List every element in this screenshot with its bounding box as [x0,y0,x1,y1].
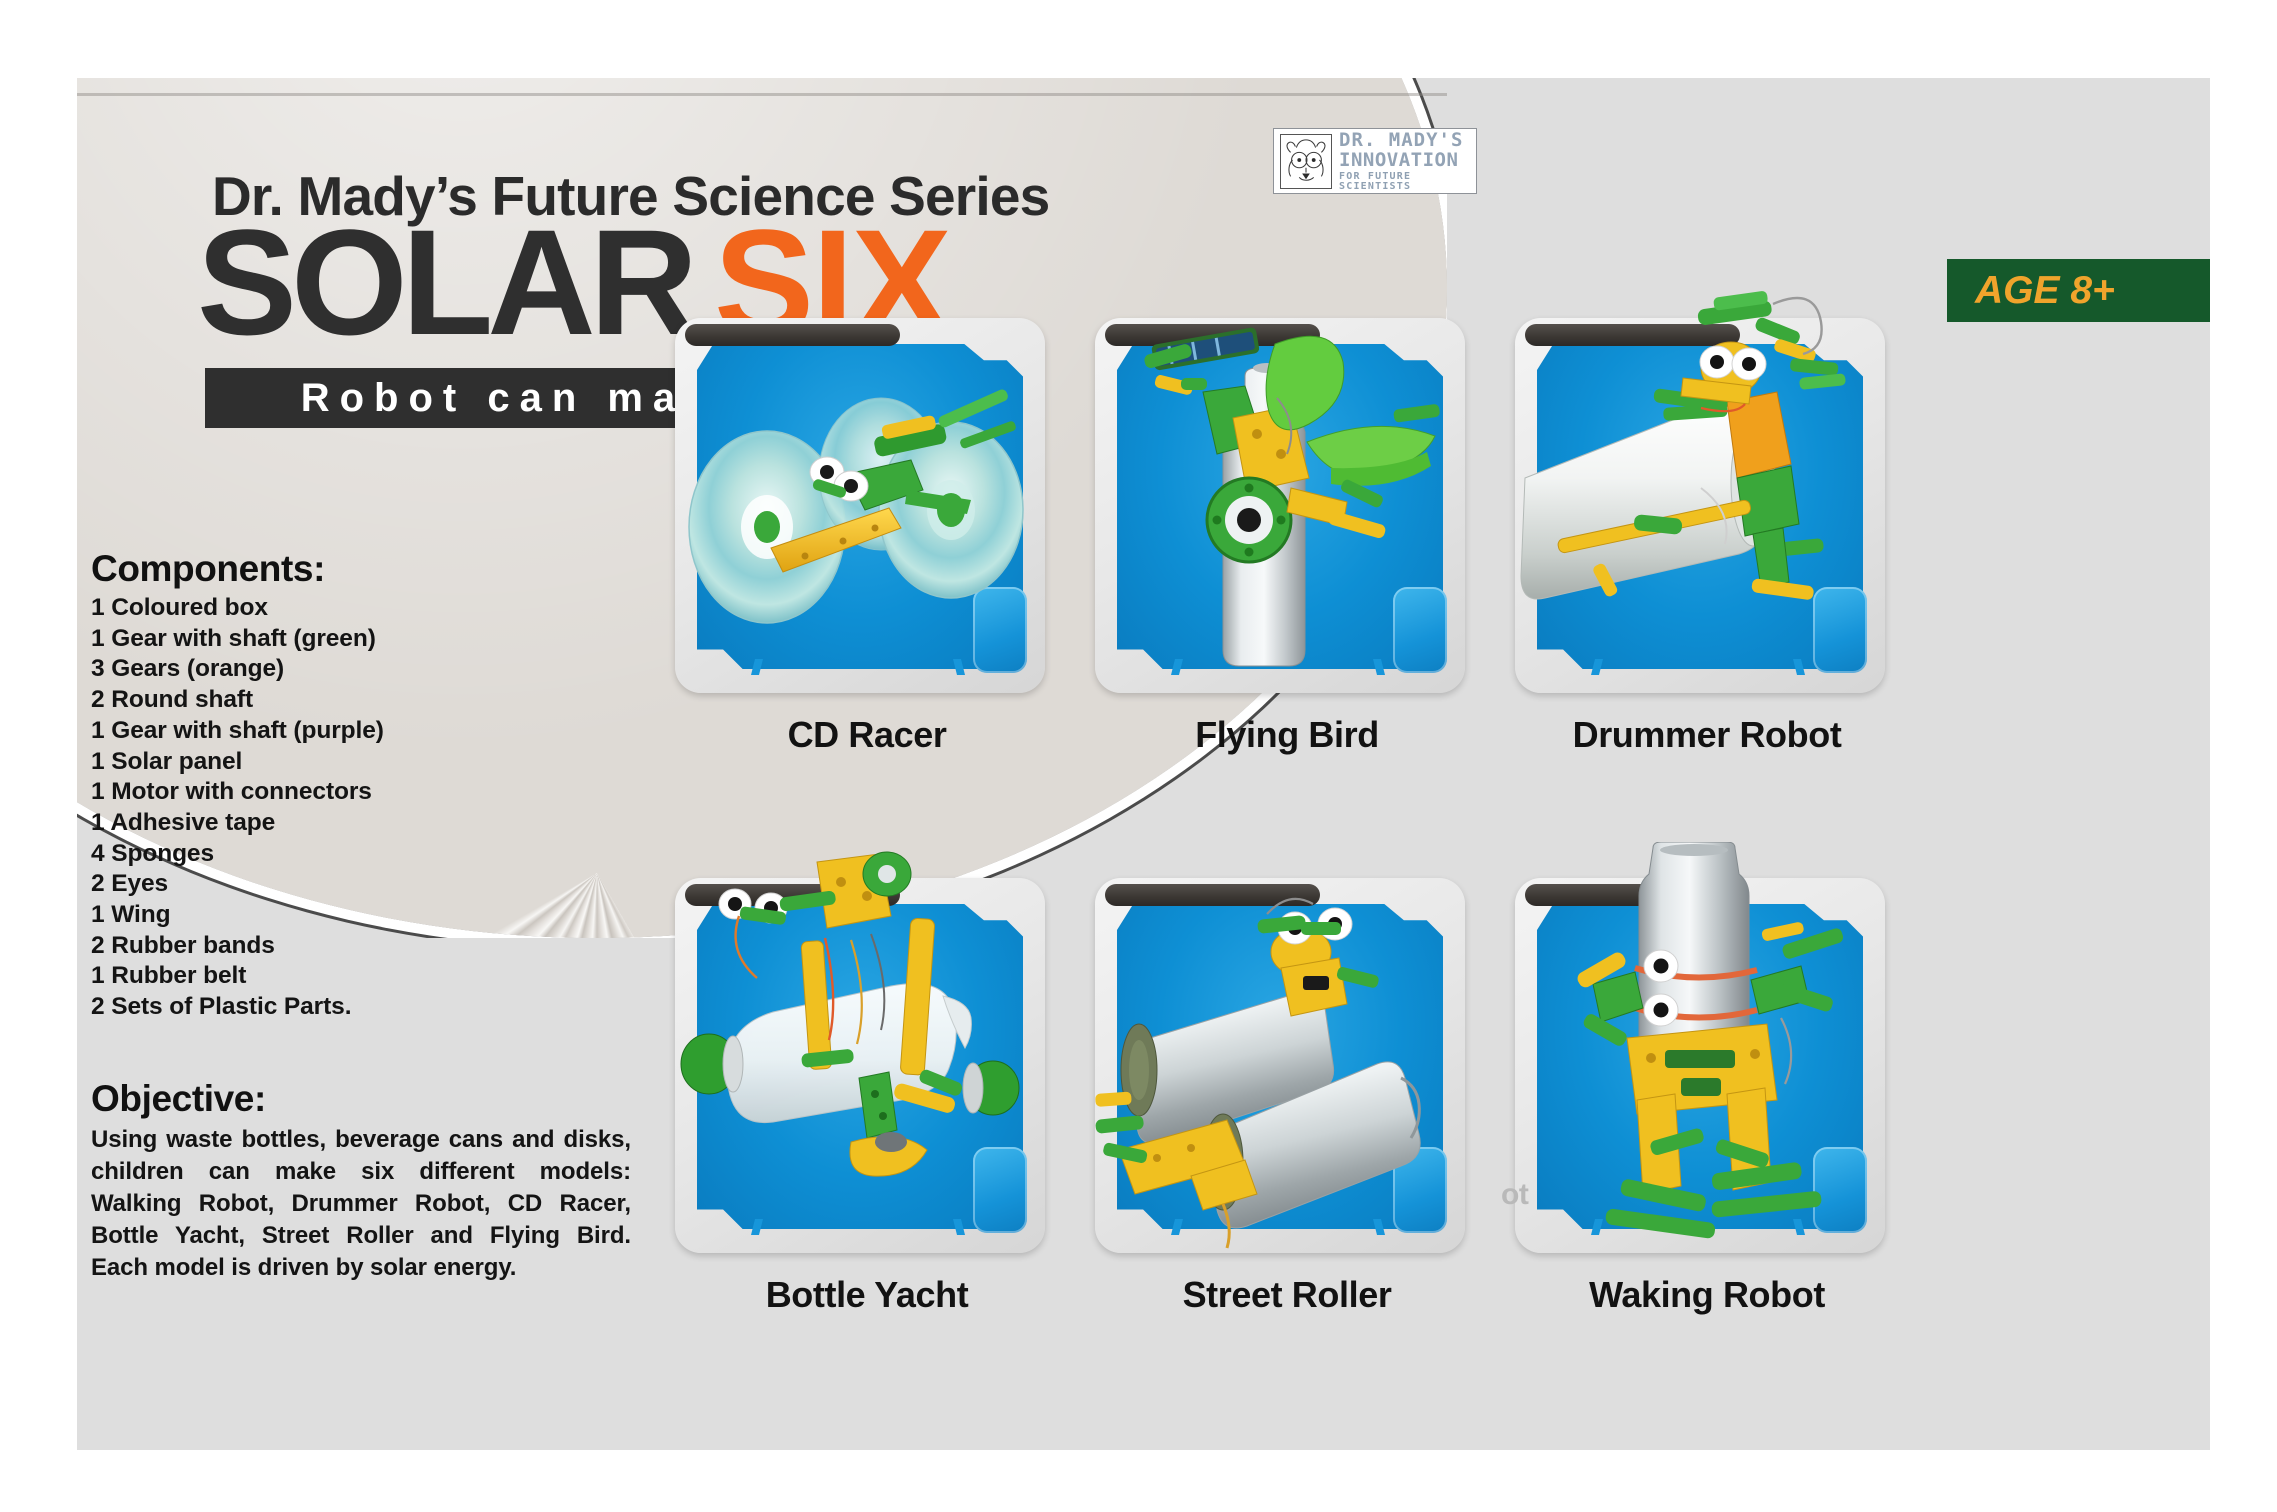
model-label: Drummer Robot [1497,714,1917,756]
age-badge: AGE 8+ [1947,259,2210,322]
content-sheet: Dr. Mady’s Future Science Series SOLARSI… [77,78,2210,1450]
list-item: 1 Rubber belt [91,961,691,992]
model-card-cd-racer[interactable]: CD Racer [657,318,1077,838]
brand-word-solar: SOLAR [197,198,692,366]
list-item: 3 Gears (orange) [91,654,691,685]
logo-line-2: INNOVATION [1339,151,1470,170]
components-list: 1 Coloured box 1 Gear with shaft (green)… [91,593,691,1023]
list-item: 4 Sponges [91,839,691,870]
hero-divider-line [77,93,1447,96]
model-label: CD Racer [657,714,1077,756]
model-card-street-roller[interactable]: Street Roller [1077,878,1497,1398]
product-package-artwork: Dr. Mady’s Future Science Series SOLARSI… [0,0,2277,1512]
model-card-flying-bird[interactable]: Flying Bird [1077,318,1497,838]
list-item: 2 Eyes [91,869,691,900]
flying-bird-photo [1095,282,1465,702]
list-item: 1 Coloured box [91,593,691,624]
age-badge-label: AGE 8+ [1975,269,2115,313]
list-item: 1 Gear with shaft (purple) [91,716,691,747]
components-section: Components: 1 Coloured box 1 Gear with s… [91,548,691,1023]
model-label: Street Roller [1077,1274,1497,1316]
photo-panel [1095,318,1465,693]
list-item: 1 Gear with shaft (green) [91,624,691,655]
objective-heading: Objective: [91,1078,631,1120]
drummer-robot-photo [1515,282,1885,702]
scientist-face-icon [1280,134,1332,189]
cd-racer-photo [675,282,1045,702]
waking-robot-photo [1515,842,1885,1262]
list-item: 2 Sets of Plastic Parts. [91,992,691,1023]
list-item: 1 Wing [91,900,691,931]
list-item: 2 Rubber bands [91,931,691,962]
photo-panel [1515,318,1885,693]
photo-panel [1095,878,1465,1253]
model-label: Waking Robot [1497,1274,1917,1316]
model-label: Bottle Yacht [657,1274,1077,1316]
model-photo-grid: CD Racer [657,318,2210,1448]
logo-wordmark: DR. MADY'S INNOVATION FOR FUTURE SCIENTI… [1339,131,1470,192]
bottle-yacht-photo [675,842,1045,1262]
components-heading: Components: [91,548,691,590]
photo-panel: ot [1515,878,1885,1253]
photo-panel [675,318,1045,693]
logo-line-3: FOR FUTURE SCIENTISTS [1339,172,1470,192]
model-label: Flying Bird [1077,714,1497,756]
model-card-waking-robot[interactable]: ot [1497,878,1917,1398]
street-roller-photo [1095,842,1465,1262]
model-card-drummer-robot[interactable]: Drummer Robot [1497,318,1917,838]
list-item: 1 Motor with connectors [91,777,691,808]
objective-body: Using waste bottles, beverage cans and d… [91,1124,631,1284]
model-card-bottle-yacht[interactable]: Bottle Yacht [657,878,1077,1398]
list-item: 2 Round shaft [91,685,691,716]
logo-line-1: DR. MADY'S [1339,131,1470,150]
list-item: 1 Solar panel [91,747,691,778]
list-item: 1 Adhesive tape [91,808,691,839]
photo-panel [675,878,1045,1253]
objective-section: Objective: Using waste bottles, beverage… [91,1078,631,1284]
brand-logo: DR. MADY'S INNOVATION FOR FUTURE SCIENTI… [1273,128,1477,194]
